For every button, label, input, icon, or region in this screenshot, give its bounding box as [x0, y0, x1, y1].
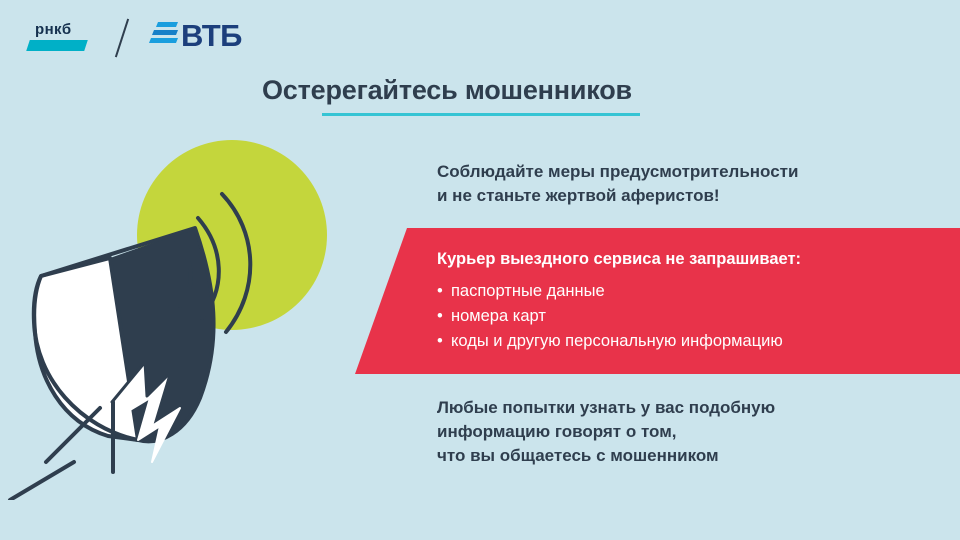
- vtb-stripe-3: [149, 38, 178, 43]
- intro-line-2: и не станьте жертвой аферистов!: [437, 184, 937, 208]
- logo-divider: [115, 19, 129, 58]
- warning-banner-heading: Курьер выездного сервиса не запрашивает:: [437, 248, 947, 270]
- warning-banner-content: Курьер выездного сервиса не запрашивает:…: [437, 248, 947, 354]
- list-item: коды и другую персональную информацию: [437, 329, 947, 354]
- logo-bar: рнкб ВТБ: [28, 16, 242, 60]
- vtb-logo: ВТБ: [150, 20, 242, 56]
- list-item: паспортные данные: [437, 279, 947, 304]
- megaphone-illustration: [0, 110, 400, 500]
- outro-line-2: информацию говорят о том,: [437, 420, 937, 444]
- vtb-stripe-1: [156, 22, 178, 27]
- slide-canvas: рнкб ВТБ Остерегайтесь мошенников: [0, 0, 960, 540]
- page-title: Остерегайтесь мошенников: [262, 74, 722, 106]
- rnkb-logo: рнкб: [28, 21, 94, 55]
- rnkb-wordmark: рнкб: [35, 21, 72, 39]
- vtb-stripe-2: [152, 30, 178, 35]
- radiating-line-1: [10, 462, 74, 500]
- vtb-wordmark: ВТБ: [181, 20, 242, 51]
- rnkb-bar-shape: [26, 40, 88, 51]
- intro-line-1: Соблюдайте меры предусмотрительности: [437, 160, 937, 184]
- vtb-stripes-icon: [150, 22, 178, 44]
- outro-paragraph: Любые попытки узнать у вас подобную инфо…: [437, 396, 937, 468]
- warning-banner-list: паспортные данные номера карт коды и дру…: [437, 279, 947, 354]
- list-item: номера карт: [437, 304, 947, 329]
- warning-banner: Курьер выездного сервиса не запрашивает:…: [355, 228, 960, 374]
- outro-line-1: Любые попытки узнать у вас подобную: [437, 396, 937, 420]
- intro-paragraph: Соблюдайте меры предусмотрительности и н…: [437, 160, 937, 208]
- outro-line-3: что вы общаетесь с мошенником: [437, 444, 937, 468]
